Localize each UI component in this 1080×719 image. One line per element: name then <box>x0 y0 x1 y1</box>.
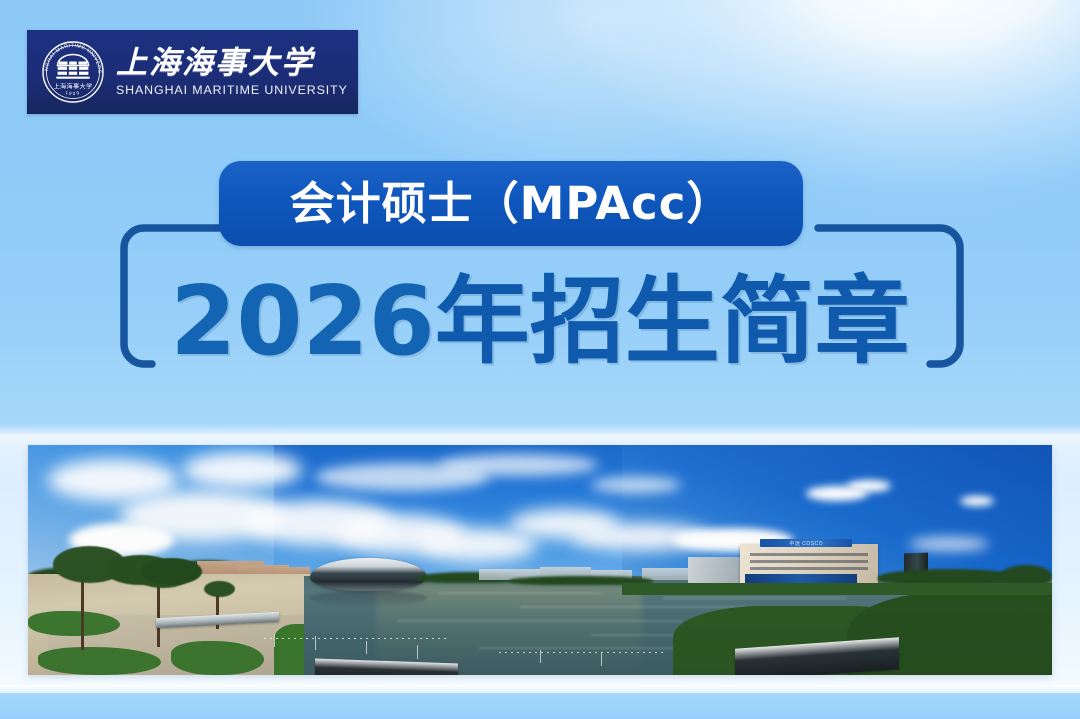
svg-text:1909: 1909 <box>65 90 81 96</box>
lawn <box>38 647 161 675</box>
railing-post <box>315 636 316 650</box>
cloud <box>847 480 891 492</box>
far-bank-strip <box>622 583 1052 595</box>
logo-name-en: SHANGHAI MARITIME UNIVERSITY <box>116 83 348 97</box>
headline-suffix: 年招生简章 <box>435 267 910 377</box>
railing-post <box>417 645 418 659</box>
program-name-banner: 会计硕士（MPAcc） <box>219 161 803 246</box>
cloud <box>960 496 994 506</box>
window-row <box>750 567 868 570</box>
cosco-rooftop-sign: 中远 COSCO <box>760 539 852 547</box>
window-row <box>750 560 868 563</box>
lawn <box>171 641 263 676</box>
university-logo-plaque: SHANGHAI MARITIME UNIVERSITY 1909 <box>27 30 358 114</box>
cosco-glass-band <box>745 574 858 583</box>
cloud <box>438 454 598 476</box>
headline-year: 2026 <box>170 267 434 377</box>
page-title: 2026年招生简章 <box>0 275 1080 370</box>
shore-railing <box>499 652 663 653</box>
water-ripple <box>397 620 684 622</box>
railing-post <box>540 650 541 664</box>
lawn <box>28 611 120 636</box>
water-ripple <box>438 592 602 594</box>
window-row <box>750 553 868 556</box>
shade-tree <box>141 558 202 586</box>
logo-name-cn: 上海海事大学 <box>116 47 348 80</box>
campus-panorama-photo: 中远 COSCO <box>28 445 1052 675</box>
oval-auditorium-building <box>310 558 428 591</box>
university-seal-icon: SHANGHAI MARITIME UNIVERSITY 1909 <box>40 39 106 105</box>
railing-post <box>366 641 367 655</box>
water-ripple <box>663 597 847 599</box>
cloud <box>182 452 302 488</box>
shore-railing <box>264 638 448 639</box>
railing-post <box>274 634 275 648</box>
svg-text:上海海事大学: 上海海事大学 <box>54 82 93 90</box>
railing-post <box>601 652 602 666</box>
bottom-accent-band <box>0 693 1080 719</box>
water-ripple <box>520 606 745 608</box>
poster-root: SHANGHAI MARITIME UNIVERSITY 1909 <box>0 0 1080 719</box>
sapling-canopy <box>204 581 235 597</box>
program-name-label: 会计硕士（MPAcc） <box>290 181 733 226</box>
cloud <box>909 537 989 551</box>
